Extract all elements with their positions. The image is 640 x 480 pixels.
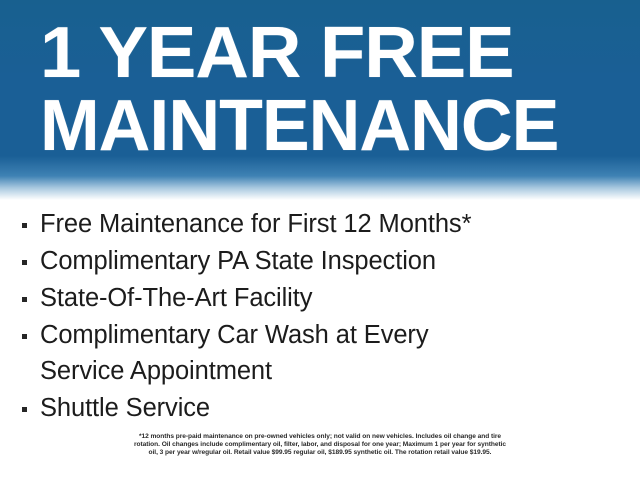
headline-line-2: MAINTENANCE [40,91,625,162]
disclaimer-line-3: oil, 3 per year w/regular oil. Retail va… [24,449,616,457]
square-bullet-icon [22,334,27,339]
disclaimer-line-1: *12 months pre-paid maintenance on pre-o… [24,433,616,441]
feature-label: Free Maintenance for First 12 Months* [40,206,471,242]
headline-block: 1 YEAR FREE MAINTENANCE [40,18,628,161]
promo-flyer: { "banner": { "headline_line1": "1 YEAR … [0,0,640,480]
list-item: Shuttle Service [0,390,640,426]
square-bullet-icon [22,297,27,302]
list-item: Free Maintenance for First 12 Months* [0,206,640,242]
promo-header-banner: 1 YEAR FREE MAINTENANCE [0,0,640,200]
square-bullet-icon [22,407,27,412]
headline-line-1: 1 YEAR FREE [40,18,640,89]
list-item: State-Of-The-Art Facility [0,280,640,316]
square-bullet-icon [22,260,27,265]
feature-label: Complimentary PA State Inspection [40,243,436,279]
feature-label: Complimentary Car Wash at Every Service … [40,317,428,389]
feature-label: State-Of-The-Art Facility [40,280,312,316]
feature-label: Shuttle Service [40,390,210,426]
disclaimer-text: *12 months pre-paid maintenance on pre-o… [0,433,640,458]
square-bullet-icon [22,223,27,228]
feature-list: Free Maintenance for First 12 Months* Co… [0,206,640,427]
disclaimer-line-2: rotation. Oil changes include compliment… [24,441,616,449]
list-item: Complimentary Car Wash at Every Service … [0,317,640,389]
list-item: Complimentary PA State Inspection [0,243,640,279]
